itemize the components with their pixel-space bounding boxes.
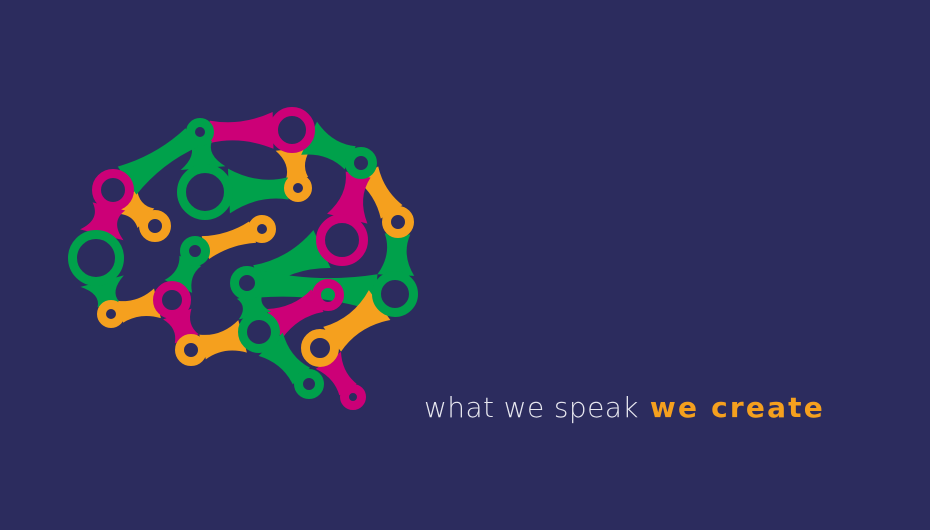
- logo-node-ring: [243, 316, 276, 349]
- logo-node-ring: [102, 305, 121, 324]
- logo-node-ring: [299, 374, 320, 395]
- brain-network-logo: [55, 95, 435, 435]
- logo-node-ring: [387, 211, 410, 234]
- logo-node-ring: [180, 339, 203, 362]
- logo-link: [377, 233, 414, 275]
- logo-node-ring: [182, 169, 229, 216]
- logo-node-ring: [191, 123, 210, 142]
- tagline: what we speak we create: [424, 391, 825, 425]
- logo-node-ring: [235, 271, 260, 296]
- logo-node-ring: [289, 179, 308, 198]
- logo-node-ring: [321, 219, 364, 262]
- logo-node-ring: [306, 334, 335, 363]
- logo-link: [210, 112, 274, 149]
- tagline-light-part: what we speak: [424, 391, 639, 424]
- logo-node-ring: [345, 389, 362, 406]
- logo-link: [202, 221, 256, 259]
- logo-node-ring: [185, 241, 206, 262]
- logo-link: [228, 169, 289, 214]
- splash-screen: what we speak we create: [0, 0, 930, 530]
- logo-node-ring: [73, 235, 120, 282]
- logo-node-ring: [97, 174, 130, 207]
- brain-network-svg: [55, 95, 435, 435]
- logo-node-ring: [377, 276, 414, 313]
- logo-node-ring: [274, 112, 311, 149]
- logo-node-ring: [253, 220, 272, 239]
- tagline-accent-part: we create: [650, 391, 825, 424]
- logo-node-ring: [144, 215, 167, 238]
- logo-node-ring: [158, 286, 187, 315]
- logo-node-ring: [350, 152, 373, 175]
- logo-nodes-layer: [73, 112, 414, 406]
